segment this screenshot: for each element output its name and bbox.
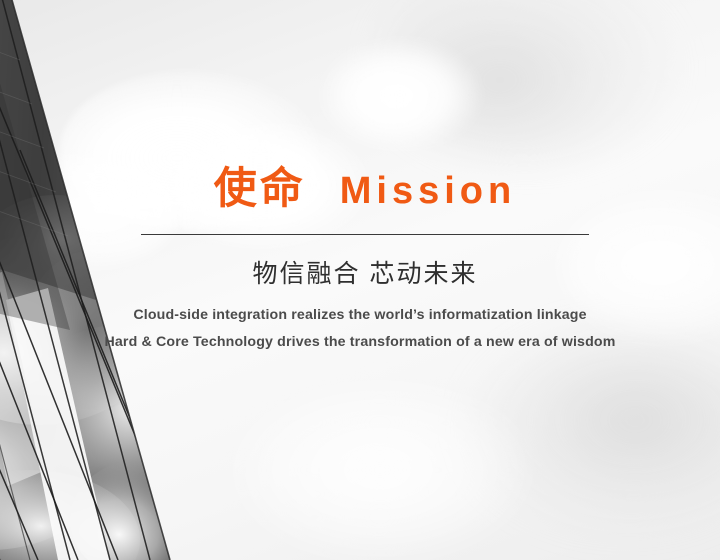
description-line-2: Hard & Core Technology drives the transf… [60, 329, 660, 356]
description-block: Cloud-side integration realizes the worl… [60, 302, 660, 357]
subtitle-chinese: 物信融合 芯动未来 [141, 258, 589, 292]
banner-title: 使命 Mission [141, 168, 589, 211]
description-line-1: Cloud-side integration realizes the worl… [60, 302, 660, 329]
title-divider [141, 234, 589, 235]
title-chinese: 使命 [214, 168, 306, 211]
title-english: Mission [340, 172, 516, 210]
mission-banner: 使命 Mission 物信融合 芯动未来 Cloud-side integrat… [0, 0, 720, 560]
banner-content: 使命 Mission 物信融合 芯动未来 Cloud-side integrat… [0, 0, 720, 560]
